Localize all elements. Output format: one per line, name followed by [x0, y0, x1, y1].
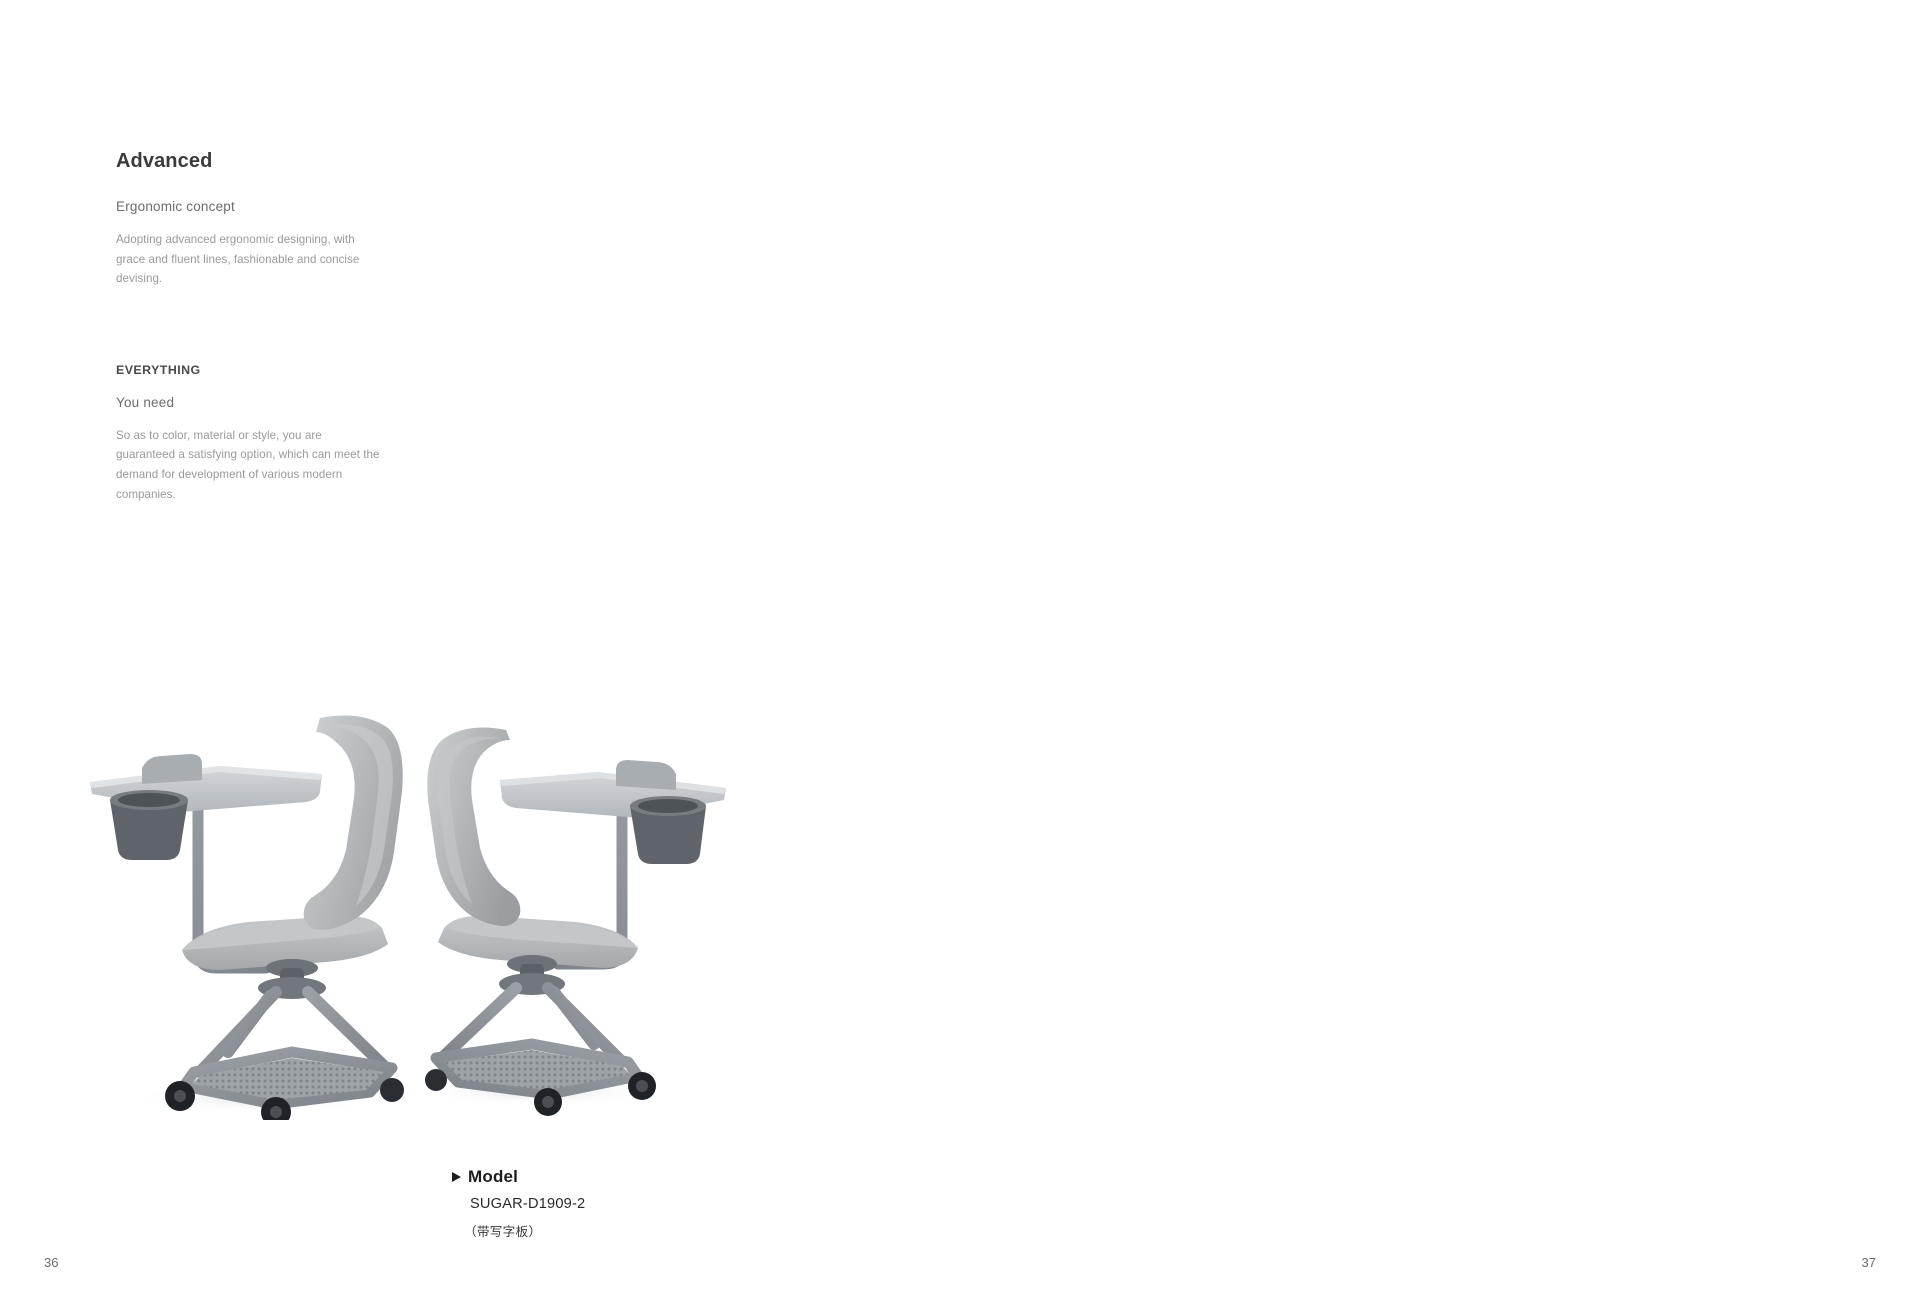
- subheading-ergonomic-concept: Ergonomic concept: [116, 199, 381, 214]
- page-number-right: 37: [1862, 1255, 1876, 1270]
- page-right: Model SUGAR- D1909-7 （四人位洽谈椅） COOL COLOR…: [960, 0, 1920, 1303]
- model-label: Model: [468, 1167, 518, 1187]
- left-text-column: Advanced Ergonomic concept Adopting adva…: [116, 150, 381, 504]
- page-left: Advanced Ergonomic concept Adopting adva…: [0, 0, 960, 1303]
- heading-everything: EVERYTHING: [116, 363, 381, 377]
- page-number-left: 36: [44, 1255, 58, 1270]
- tablet-chair-right: [425, 728, 726, 1116]
- tablet-chair-left: [90, 716, 404, 1120]
- page-title: Advanced: [116, 150, 381, 173]
- triangle-bullet-icon: [452, 1172, 461, 1182]
- paragraph-ergonomic: Adopting advanced ergonomic designing, w…: [116, 230, 381, 289]
- model-caption-bottom: Model SUGAR-D1909-2 （带写字板）: [452, 1167, 585, 1240]
- model-code: SUGAR-D1909-2: [470, 1196, 585, 1212]
- tablet-arm-swivel-chair-pair-photo: [70, 700, 750, 1120]
- paragraph-everything: So as to color, material or style, you a…: [116, 426, 381, 504]
- model-chinese-name: （带写字板）: [464, 1221, 585, 1240]
- subheading-you-need: You need: [116, 395, 381, 410]
